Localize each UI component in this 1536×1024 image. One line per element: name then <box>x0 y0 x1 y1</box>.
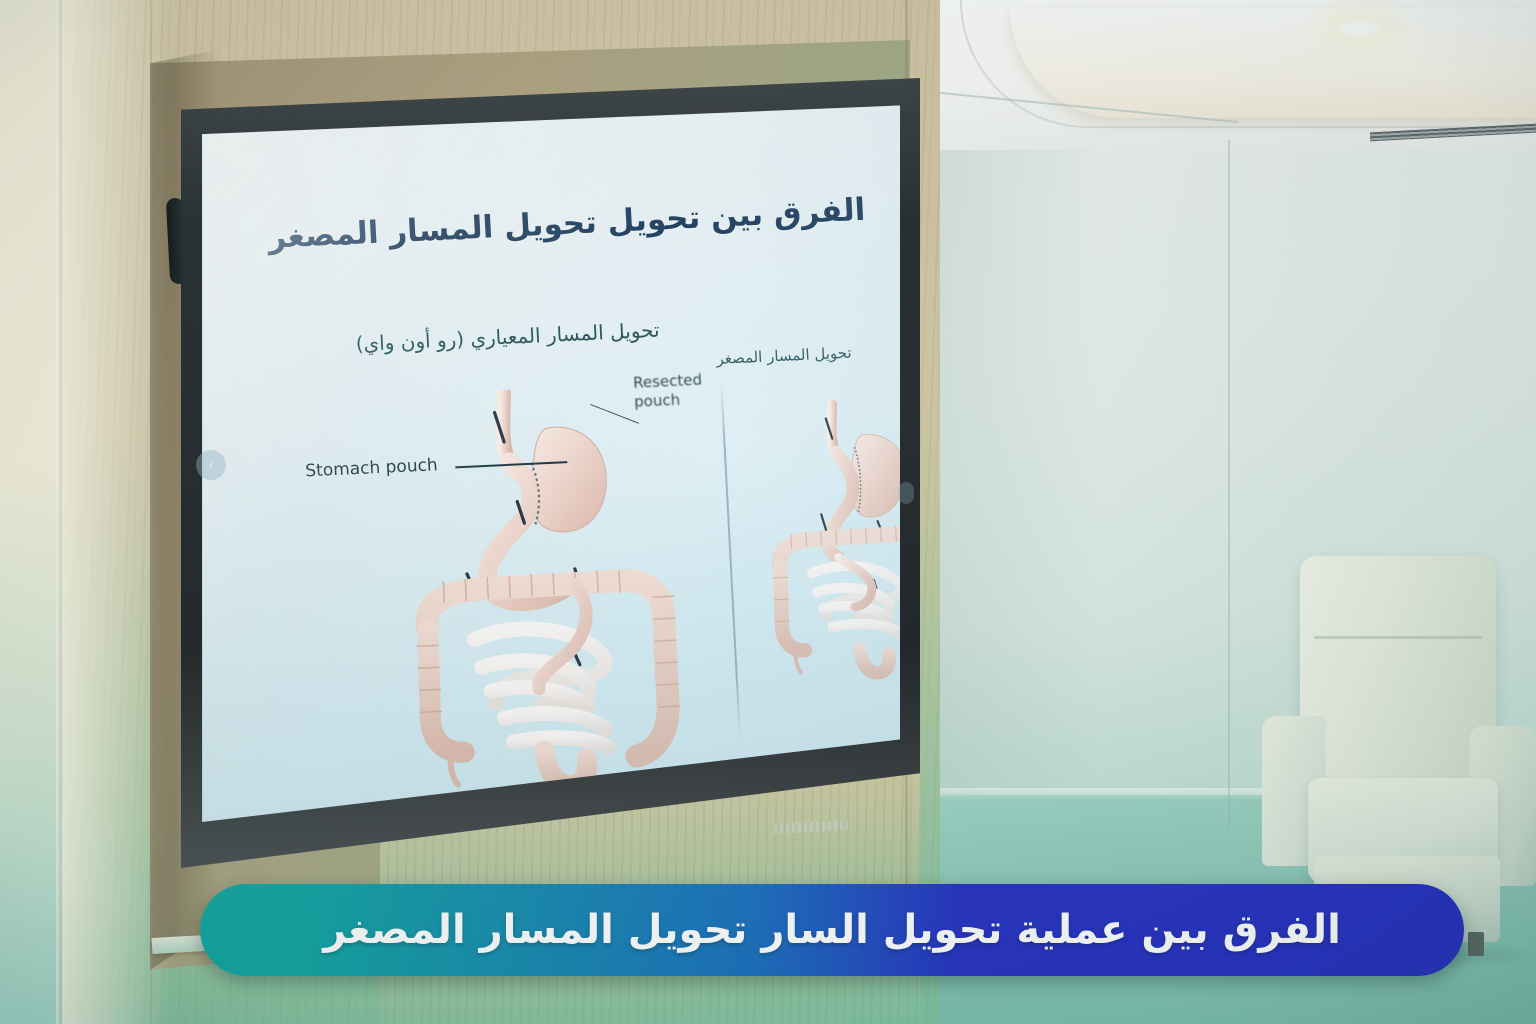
clinic-room-scene: الفرق بين تحويل تحويل المسار المصغر تحوي… <box>0 0 1536 1024</box>
left-panel-subtitle: تحويل المسار المعياري (رو أون واي) <box>312 316 703 358</box>
interactive-display[interactable]: الفرق بين تحويل تحويل المسار المصغر تحوي… <box>178 78 920 868</box>
panel-divider <box>720 380 741 740</box>
chair-foot <box>1468 932 1484 956</box>
toolbar-handle-icon[interactable] <box>898 482 914 504</box>
presentation-slide: الفرق بين تحويل تحويل المسار المصغر تحوي… <box>200 104 900 821</box>
label-resected-pouch: Resected pouch <box>633 370 725 412</box>
wood-highlight <box>62 0 172 1024</box>
mini-gastric-bypass-illustration <box>744 388 900 688</box>
right-panel-subtitle: تحويل المسار المصغر <box>669 341 900 370</box>
caption-banner: الفرق بين عملية تحويل السار تحويل المسار… <box>200 884 1464 976</box>
gastric-bypass-illustration <box>376 381 727 796</box>
wall-corner-line <box>1228 140 1230 830</box>
recessed-downlight-icon <box>1332 18 1388 38</box>
slide-title: الفرق بين تحويل تحويل المسار المصغر <box>266 191 867 258</box>
ceiling-cove-edge <box>960 0 1536 128</box>
display-indicator-icon <box>438 860 453 871</box>
display-brand-logo <box>774 820 848 834</box>
left-wall-strip <box>0 0 62 1024</box>
caption-banner-text: الفرق بين عملية تحويل السار تحويل المسار… <box>323 907 1341 953</box>
chair-backrest-seam <box>1314 636 1482 639</box>
display-screen[interactable]: الفرق بين تحويل تحويل المسار المصغر تحوي… <box>200 104 900 822</box>
chair-backrest <box>1300 556 1496 804</box>
toolbar-handle-icon[interactable]: ‹ <box>196 450 226 480</box>
